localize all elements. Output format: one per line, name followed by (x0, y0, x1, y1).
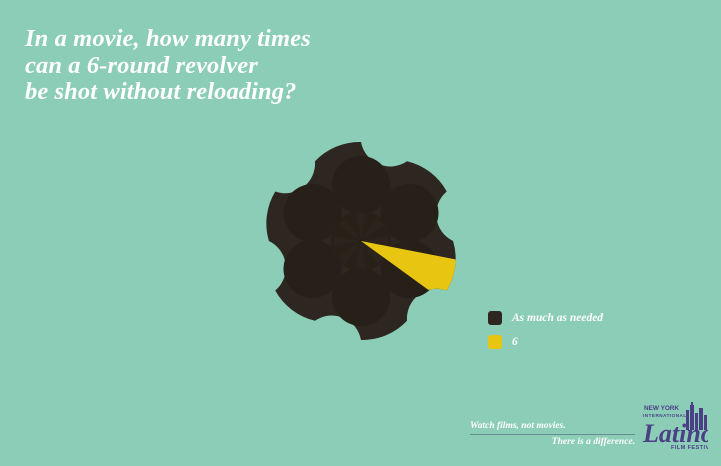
revolver-cylinder-pie-chart (258, 138, 468, 348)
legend-item-as-much-as-needed: As much as needed (488, 307, 678, 329)
logo-wordmark-latino: Latino (642, 419, 708, 448)
footer: Watch films, not movies. There is a diff… (470, 420, 705, 466)
tagline-divider (470, 434, 635, 435)
dark-swatch-icon (488, 311, 502, 325)
legend-item-six: 6 (488, 331, 678, 353)
logo-svg: NEW YORK INTERNATIONAL Latino FILM FESTI… (642, 402, 708, 452)
nyilff-logo: NEW YORK INTERNATIONAL Latino FILM FESTI… (642, 402, 708, 452)
headline-line-1: In a movie, how many times (25, 26, 445, 53)
yellow-swatch-icon (488, 335, 502, 349)
logo-line-new-york: NEW YORK (644, 405, 679, 412)
pie-chart-svg (258, 138, 468, 348)
tagline-line-1: Watch films, not movies. (470, 420, 635, 433)
chamber-circle (332, 268, 390, 326)
page-title: In a movie, how many times can a 6-round… (25, 26, 445, 106)
poster-canvas: In a movie, how many times can a 6-round… (0, 0, 721, 466)
logo-line-film-festival: FILM FESTIVAL (671, 445, 708, 451)
tagline: Watch films, not movies. There is a diff… (470, 420, 635, 449)
tagline-line-2: There is a difference. (470, 436, 635, 449)
chamber-circle (332, 156, 390, 214)
logo-line-international: INTERNATIONAL (643, 413, 687, 418)
legend-label-six: 6 (512, 335, 518, 349)
headline-line-2: can a 6-round revolver (25, 53, 445, 80)
headline-line-3: be shot without reloading? (25, 79, 445, 106)
chart-legend: As much as needed 6 (488, 307, 678, 355)
legend-label-as-much-as-needed: As much as needed (512, 311, 603, 325)
